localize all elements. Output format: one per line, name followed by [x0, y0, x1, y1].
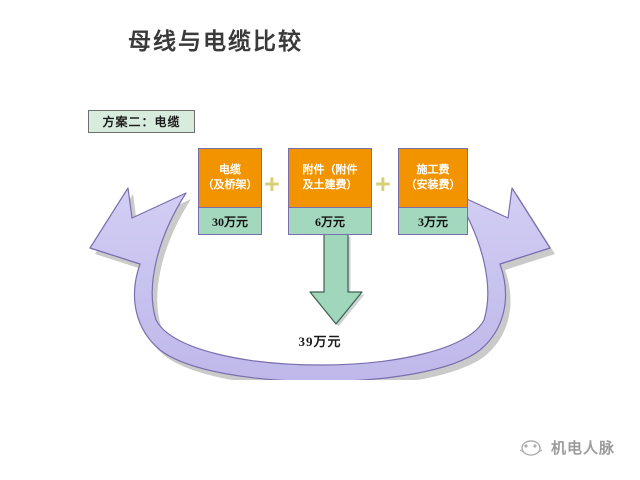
- cost-box-construction-value: 3万元: [399, 208, 467, 234]
- cost-box-construction-title: 施工费 （安装费）: [399, 149, 467, 208]
- circle-logo-icon: [518, 438, 544, 458]
- down-arrow-icon: [304, 234, 368, 326]
- cost-box-fittings-title: 附件（附件 及土建费）: [289, 149, 371, 208]
- cost-box-cable: 电缆 （及桥架） 30万元: [198, 148, 262, 235]
- scheme-label-text: 方案二：电缆: [102, 113, 180, 130]
- cost-box-construction-title-line1: 施工费: [417, 163, 450, 178]
- cost-box-cable-title-line2: （及桥架）: [203, 178, 258, 193]
- scheme-label-box: 方案二：电缆: [88, 110, 195, 133]
- cost-box-fittings-title-line1: 附件（附件: [303, 163, 358, 178]
- cost-box-cable-title: 电缆 （及桥架）: [199, 149, 261, 208]
- plus-operator-1: +: [264, 171, 280, 198]
- watermark-text: 机电人脉: [551, 437, 615, 458]
- cost-box-fittings-title-line2: 及土建费）: [303, 178, 358, 193]
- cost-box-construction-title-line2: （安装费）: [406, 178, 461, 193]
- watermark: 机电人脉: [518, 437, 615, 458]
- cost-box-cable-title-line1: 电缆: [219, 163, 241, 178]
- cost-box-cable-value: 30万元: [199, 208, 261, 234]
- cost-box-fittings: 附件（附件 及土建费） 6万元: [288, 148, 372, 235]
- cost-box-construction: 施工费 （安装费） 3万元: [398, 148, 468, 235]
- slide-canvas: 母线与电缆比较 方案二：电缆 电缆 （及桥架） 30万元 +: [0, 0, 640, 480]
- page-title: 母线与电缆比较: [128, 22, 303, 56]
- total-cost-label: 39万元: [0, 331, 640, 350]
- cost-box-fittings-value: 6万元: [289, 208, 371, 234]
- plus-operator-2: +: [375, 171, 391, 198]
